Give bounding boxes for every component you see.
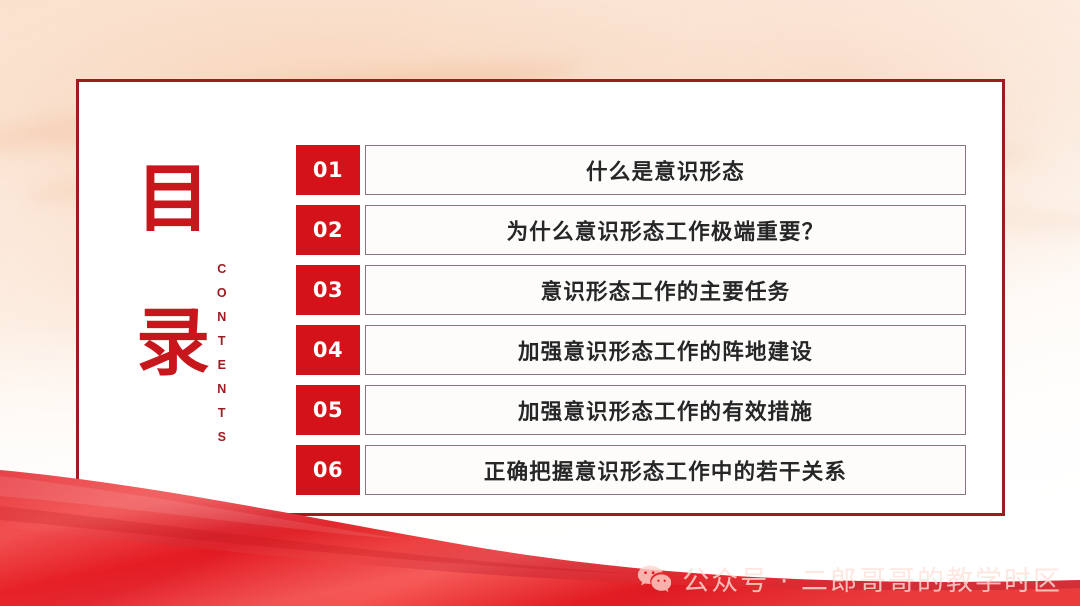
title-character-1: 目 [115, 162, 231, 236]
contents-list: 01 什么是意识形态 02 为什么意识形态工作极端重要？ 03 意识形态工作的主… [296, 145, 966, 495]
list-item[interactable]: 05 加强意识形态工作的有效措施 [296, 385, 966, 435]
ribbon-svg [0, 446, 1080, 606]
item-box[interactable]: 什么是意识形态 [365, 145, 966, 195]
item-box[interactable]: 加强意识形态工作的有效措施 [365, 385, 966, 435]
list-item[interactable]: 01 什么是意识形态 [296, 145, 966, 195]
item-box[interactable]: 意识形态工作的主要任务 [365, 265, 966, 315]
item-label: 什么是意识形态 [586, 155, 745, 186]
slide-root: 目 录 C O N T E N T S 01 什么是意识形态 02 [0, 0, 1080, 606]
item-label: 加强意识形态工作的阵地建设 [518, 335, 813, 366]
list-item[interactable]: 03 意识形态工作的主要任务 [296, 265, 966, 315]
contents-letter: N [207, 305, 237, 329]
contents-letter: T [207, 329, 237, 353]
item-box[interactable]: 为什么意识形态工作极端重要？ [365, 205, 966, 255]
ribbon-sheen [0, 470, 1080, 606]
contents-letter: E [207, 353, 237, 377]
contents-vertical-label: C O N T E N T S [207, 257, 237, 449]
item-number-badge: 02 [296, 205, 360, 255]
item-number-badge: 04 [296, 325, 360, 375]
item-number-badge: 05 [296, 385, 360, 435]
item-label: 意识形态工作的主要任务 [541, 275, 791, 306]
contents-letter: C [207, 257, 237, 281]
item-box[interactable]: 加强意识形态工作的阵地建设 [365, 325, 966, 375]
list-item[interactable]: 02 为什么意识形态工作极端重要？ [296, 205, 966, 255]
item-number-badge: 01 [296, 145, 360, 195]
contents-letter: N [207, 377, 237, 401]
contents-letter: O [207, 281, 237, 305]
red-ribbon-decoration [0, 446, 1080, 606]
contents-letter: T [207, 401, 237, 425]
item-number-badge: 03 [296, 265, 360, 315]
list-item[interactable]: 04 加强意识形态工作的阵地建设 [296, 325, 966, 375]
item-label: 加强意识形态工作的有效措施 [518, 395, 813, 426]
item-label: 为什么意识形态工作极端重要？ [507, 215, 825, 246]
